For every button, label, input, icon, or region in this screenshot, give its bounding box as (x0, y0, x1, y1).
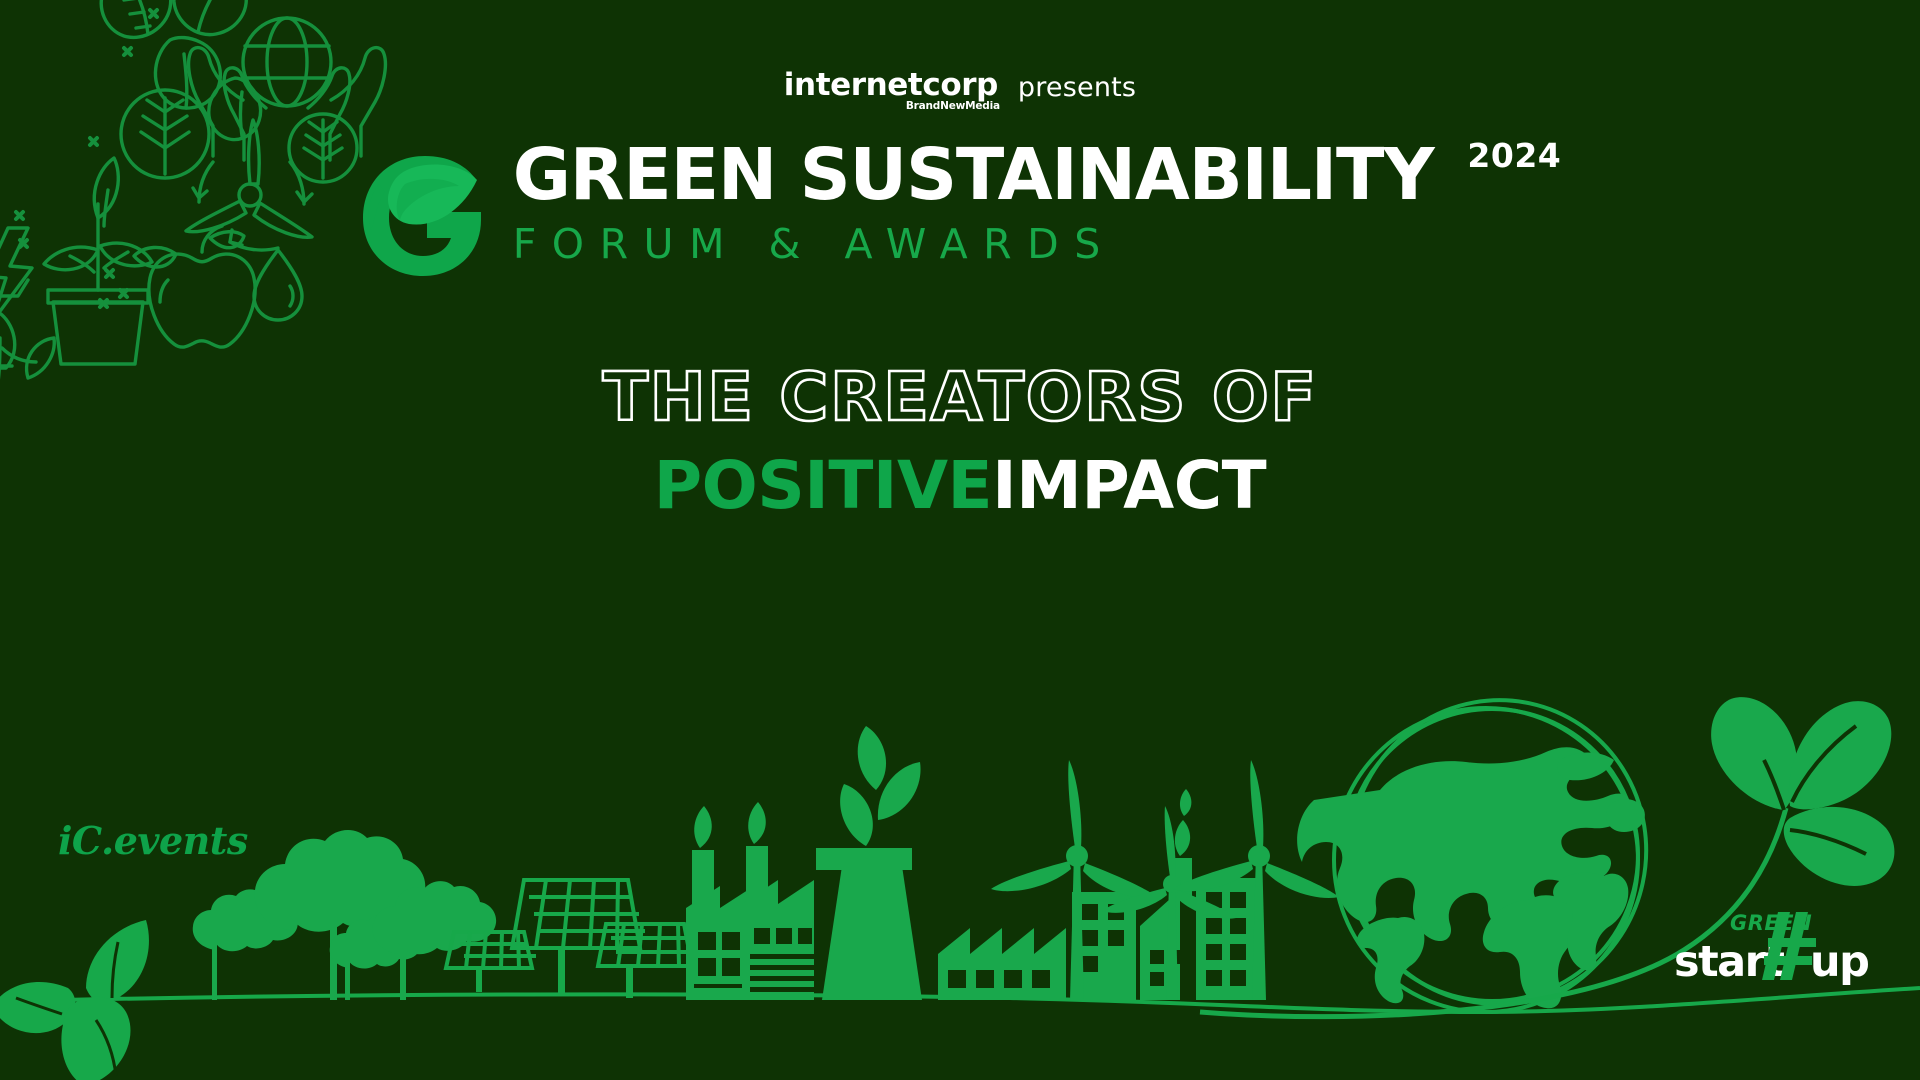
leaf (840, 784, 873, 846)
green-startup-up-label: up (1810, 937, 1868, 987)
tagline-highlight: POSITIVE (654, 447, 992, 524)
green-startup-logo: GREEN start up (1672, 904, 1872, 992)
factory-chimney (816, 726, 922, 1000)
presenter-line: internetcorp BrandNewMedia presents (0, 70, 1920, 101)
event-subtitle: FORUM & AWARDS (513, 220, 1562, 268)
factory (742, 802, 814, 1000)
factory (938, 928, 1066, 1000)
event-logo-block: GREEN SUSTAINABILITY 2024 FORUM & AWARDS (0, 140, 1920, 282)
solar-panel (598, 924, 694, 998)
leaf (858, 726, 886, 790)
presents-label: presents (1018, 74, 1136, 101)
event-year: 2024 (1467, 136, 1561, 175)
tagline-line-1: THE CREATORS OF (0, 360, 1920, 435)
internetcorp-logo: internetcorp BrandNewMedia (784, 70, 998, 101)
bottom-illustration-scene (0, 620, 1920, 1080)
tagline-block: THE CREATORS OF POSITIVEIMPACT (0, 360, 1920, 523)
poster-canvas: internetcorp BrandNewMedia presents GREE… (0, 0, 1920, 1080)
building (1196, 878, 1258, 1000)
sprout-leaves (1711, 697, 1894, 886)
tagline-rest: IMPACT (992, 447, 1266, 524)
internetcorp-wordmark: internetcorp (784, 67, 998, 103)
event-title: GREEN SUSTAINABILITY (513, 140, 1434, 210)
tagline-line-2: POSITIVEIMPACT (0, 449, 1920, 523)
brandnewmedia-tagline: BrandNewMedia (906, 100, 1000, 112)
g-leaf-logo-icon (359, 150, 491, 282)
